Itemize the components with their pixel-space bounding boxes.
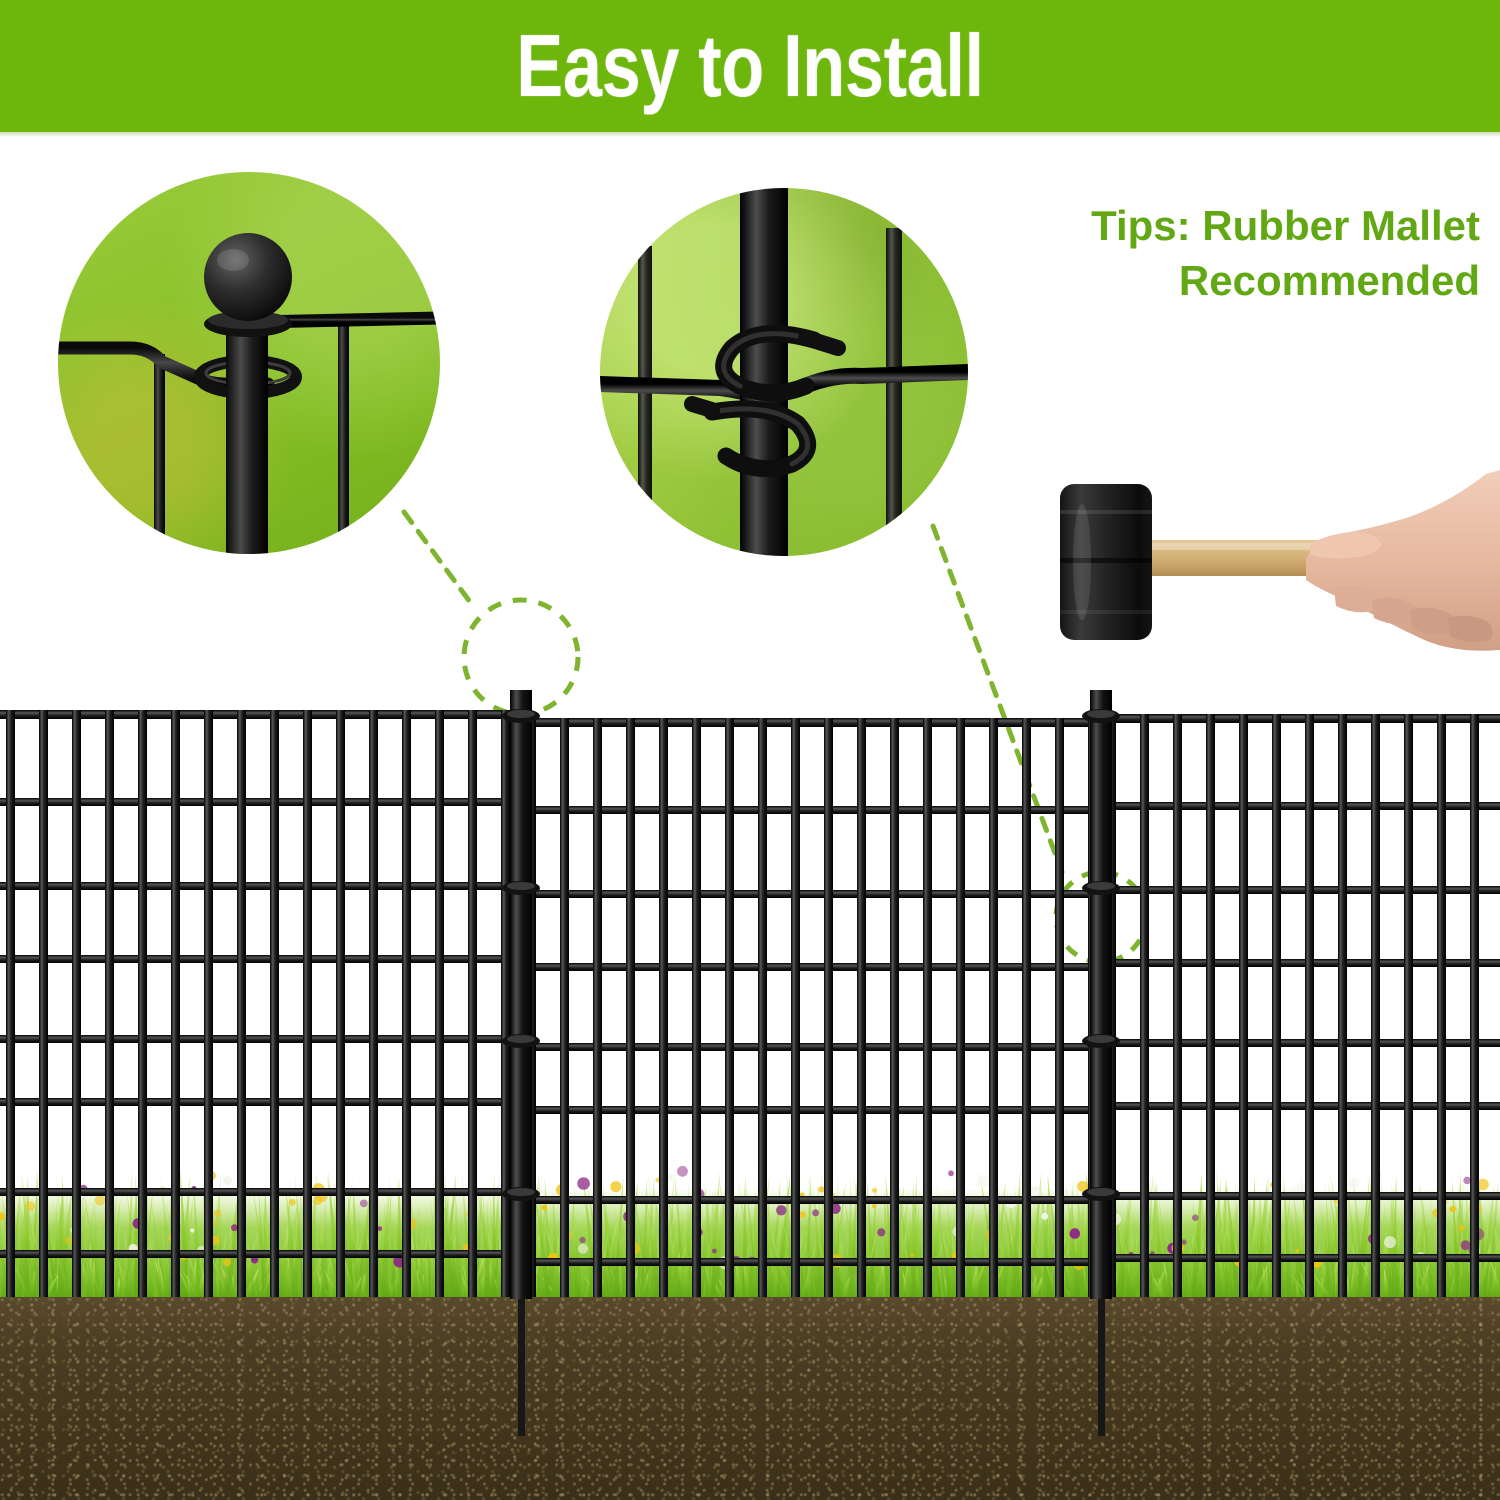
fence-bar [1140, 714, 1149, 1297]
fence-bar [956, 718, 965, 1297]
clip-highlight [1087, 882, 1115, 890]
ball-finial-detail-circle [58, 172, 440, 554]
fence-rail [519, 718, 1103, 727]
fence-scene [0, 690, 1500, 1500]
clip-highlight [1087, 710, 1115, 718]
callout-line-ball-finial [404, 512, 470, 602]
fence-rail [519, 1043, 1103, 1051]
fence-bar [593, 718, 602, 1297]
fence-bar [989, 718, 998, 1297]
fence-stake [518, 1291, 525, 1436]
fence-bar [758, 718, 767, 1297]
fence-bar [1239, 714, 1248, 1297]
fence-stake [1098, 1291, 1105, 1436]
fence-post [1090, 690, 1112, 1299]
fence-bar [204, 710, 213, 1297]
fence-bar [659, 718, 668, 1297]
s-hook-connector-detail-circle [600, 188, 968, 556]
fence-bar [39, 710, 48, 1297]
fence-bar [1206, 714, 1215, 1297]
fence-panels [0, 690, 1500, 1500]
clip-highlight [507, 710, 535, 718]
fence-bar [890, 718, 899, 1297]
fence-bar [435, 710, 444, 1297]
fence-bar [72, 710, 81, 1297]
clip-highlight [507, 1188, 535, 1196]
fence-rail [519, 1258, 1103, 1266]
fence-bar [1338, 714, 1347, 1297]
fence-bar [1272, 714, 1281, 1297]
fence-rail [519, 890, 1103, 898]
fence-rail [519, 1196, 1103, 1204]
rubber-mallet-with-hand [1020, 440, 1500, 680]
fence-bar [1173, 714, 1182, 1297]
tips-line-1: Tips: Rubber Mallet [1091, 202, 1480, 249]
fence-bar [336, 710, 345, 1297]
fence-bar [237, 710, 246, 1297]
fence-rail [519, 1106, 1103, 1114]
fence-bar [369, 710, 378, 1297]
fence-bar [560, 718, 569, 1297]
fence-bar [303, 710, 312, 1297]
clip-highlight [1087, 1035, 1115, 1043]
ball-finial-detail-illustration [58, 172, 440, 554]
fence-bar [1305, 714, 1314, 1297]
product-infographic: Easy to Install Tips: Rubber Mallet Reco… [0, 0, 1500, 1500]
fence-bar [501, 710, 510, 1297]
fence-bar [1470, 714, 1479, 1297]
tips-line-2: Recommended [960, 253, 1480, 308]
fence-bar [725, 718, 734, 1297]
fence-bar [6, 710, 15, 1297]
page-title: Easy to Install [150, 0, 1350, 132]
fence-bar [468, 710, 477, 1297]
header-banner: Easy to Install [0, 0, 1500, 132]
fence-bar [791, 718, 800, 1297]
clip-highlight [1087, 1188, 1115, 1196]
fence-bar [1022, 718, 1031, 1297]
fence-bar [1371, 714, 1380, 1297]
banner-shadow [0, 132, 1500, 137]
fence-bar [923, 718, 932, 1297]
fence-bar [1404, 714, 1413, 1297]
fence-rail [519, 806, 1103, 814]
fence-bar [138, 710, 147, 1297]
tips-text: Tips: Rubber Mallet Recommended [960, 198, 1480, 309]
fence-bar [824, 718, 833, 1297]
fence-bar [857, 718, 866, 1297]
fence-bar [692, 718, 701, 1297]
fence-bar [1437, 714, 1446, 1297]
fence-rail [519, 963, 1103, 971]
fence-bar [105, 710, 114, 1297]
fence-bar [402, 710, 411, 1297]
fence-post [510, 690, 532, 1299]
fence-bar [171, 710, 180, 1297]
clip-highlight [507, 882, 535, 890]
fence-bar [270, 710, 279, 1297]
fence-bar [1055, 718, 1064, 1297]
hand [1306, 470, 1500, 651]
clip-highlight [507, 1035, 535, 1043]
fence-bar [626, 718, 635, 1297]
mallet-head [1060, 484, 1152, 640]
s-hook-detail-illustration [600, 188, 968, 556]
